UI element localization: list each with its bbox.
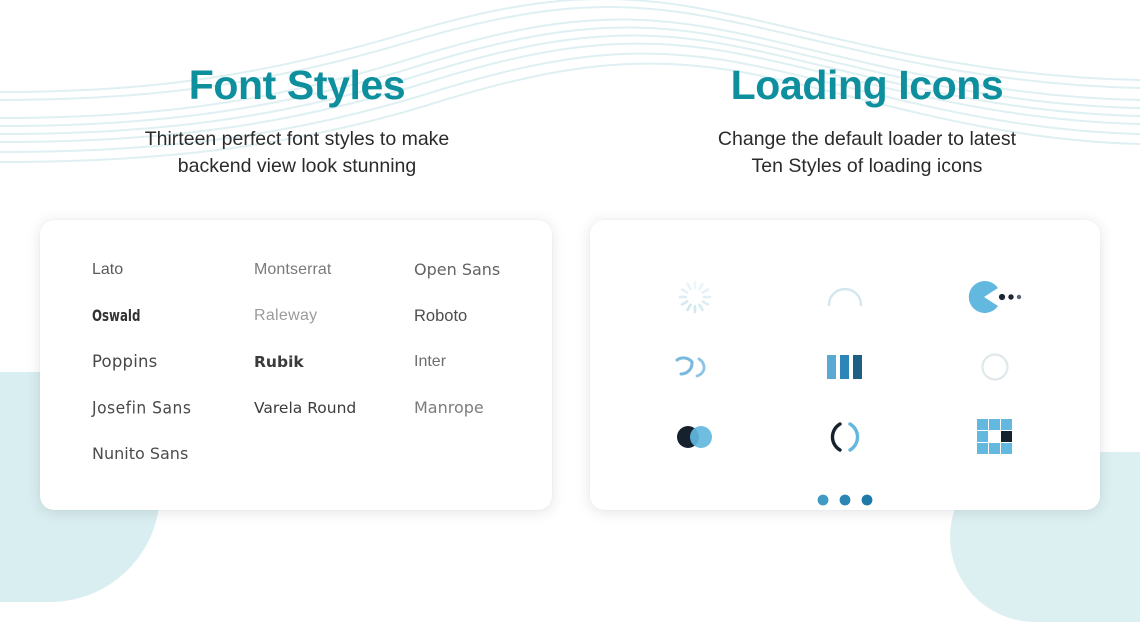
font-list: Lato Montserrat Open Sans Oswald Raleway…: [92, 258, 512, 466]
loader-item[interactable]: [815, 407, 875, 467]
font-grid-spacer-b: [414, 442, 512, 466]
split-ring-icon: [825, 417, 865, 457]
three-bars-icon: [824, 351, 866, 383]
loader-item[interactable]: [965, 407, 1025, 467]
font-item-nunito-sans[interactable]: Nunito Sans: [92, 442, 254, 466]
spinner-dashes-icon: [677, 279, 713, 315]
circle-outline-icon: [977, 349, 1013, 385]
three-dots-icon: [814, 492, 876, 508]
loader-item[interactable]: [665, 267, 725, 327]
subtitle-line-1: Thirteen perfect font styles to make: [0, 126, 594, 153]
loader-list: [620, 262, 1070, 472]
loader-item[interactable]: [665, 337, 725, 397]
subtitle-line-1: Change the default loader to latest: [594, 126, 1140, 153]
pacman-dots-icon: [967, 281, 1023, 313]
subtitle-font-styles: Thirteen perfect font styles to make bac…: [0, 126, 594, 180]
font-item-raleway[interactable]: Raleway: [254, 304, 414, 328]
grid-squares-icon: [976, 418, 1014, 456]
loader-item[interactable]: [665, 407, 725, 467]
page-root: Font Styles Thirteen perfect font styles…: [0, 0, 1140, 578]
font-item-roboto[interactable]: Roboto: [414, 304, 512, 328]
loading-icons-card: [590, 220, 1100, 510]
loader-item[interactable]: [965, 267, 1025, 327]
font-styles-panel: Font Styles Thirteen perfect font styles…: [0, 0, 594, 180]
font-item-varela-round[interactable]: Varela Round: [254, 396, 414, 420]
font-item-inter[interactable]: Inter: [414, 350, 512, 374]
loader-item[interactable]: [815, 337, 875, 397]
loader-item[interactable]: [815, 267, 875, 327]
two-circles-icon: [671, 422, 719, 452]
font-item-open-sans[interactable]: Open Sans: [414, 258, 512, 282]
page-title-font-styles: Font Styles: [0, 62, 594, 109]
loader-item[interactable]: [965, 337, 1025, 397]
crescent-arcs-icon: [671, 350, 719, 384]
font-item-montserrat[interactable]: Montserrat: [254, 258, 414, 282]
font-styles-card: Lato Montserrat Open Sans Oswald Raleway…: [40, 220, 552, 510]
font-item-oswald[interactable]: Oswald: [92, 304, 225, 328]
arc-ring-icon: [823, 275, 867, 319]
loading-icons-panel: Loading Icons Change the default loader …: [594, 0, 1140, 180]
page-title-loading-icons: Loading Icons: [594, 62, 1140, 109]
subtitle-loading-icons: Change the default loader to latest Ten …: [594, 126, 1140, 180]
font-item-manrope[interactable]: Manrope: [414, 396, 512, 420]
font-grid-spacer-a: [254, 442, 414, 466]
subtitle-line-2: Ten Styles of loading icons: [594, 153, 1140, 180]
loader-item[interactable]: [620, 472, 1070, 528]
font-item-lato[interactable]: Lato: [92, 258, 254, 282]
font-item-poppins[interactable]: Poppins: [92, 350, 254, 374]
font-item-josefin-sans[interactable]: Josefin Sans: [92, 395, 254, 420]
font-item-rubik[interactable]: Rubik: [254, 350, 414, 374]
subtitle-line-2: backend view look stunning: [0, 153, 594, 180]
